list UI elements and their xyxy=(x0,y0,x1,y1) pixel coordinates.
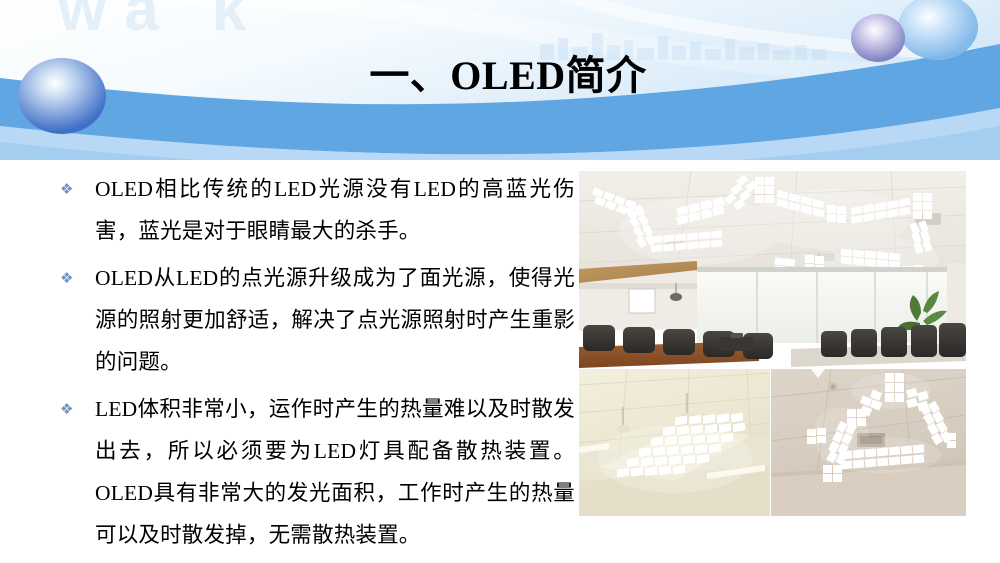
bullet-text: OLED从LED的点光源升级成为了面光源，使得光源的照射更加舒适，解决了点光源照… xyxy=(95,257,575,383)
image-collage xyxy=(579,171,966,516)
bullet-diamond-icon: ❖ xyxy=(55,168,95,210)
image-suspended-oled-panel-array xyxy=(579,369,770,516)
image-conference-room-oled-ceiling xyxy=(579,171,966,368)
bullet-text: LED体积非常小，运作时产生的热量难以及时散发出去，所以必须要为LED灯具配备散… xyxy=(95,388,575,556)
background-watermark: wa k xyxy=(58,0,264,45)
bullet-item: ❖ OLED从LED的点光源升级成为了面光源，使得光源的照射更加舒适，解决了点光… xyxy=(55,257,575,383)
presentation-slide: wa k 一、OLED简介 ❖ OLED相比传统的LED光源没有LED的高蓝光伤… xyxy=(0,0,1000,563)
bullet-item: ❖ OLED相比传统的LED光源没有LED的高蓝光伤害，蓝光是对于眼睛最大的杀手… xyxy=(55,168,575,252)
slide-header-banner: wa k 一、OLED简介 xyxy=(0,0,1000,160)
image-honeycomb-oled-ceiling xyxy=(771,369,966,516)
bullet-text: OLED相比传统的LED光源没有LED的高蓝光伤害，蓝光是对于眼睛最大的杀手。 xyxy=(95,168,575,252)
bullet-diamond-icon: ❖ xyxy=(55,257,95,299)
slide-body-content: ❖ OLED相比传统的LED光源没有LED的高蓝光伤害，蓝光是对于眼睛最大的杀手… xyxy=(55,168,575,561)
bullet-item: ❖ LED体积非常小，运作时产生的热量难以及时散发出去，所以必须要为LED灯具配… xyxy=(55,388,575,556)
slide-title: 一、OLED简介 xyxy=(0,52,1000,100)
bullet-diamond-icon: ❖ xyxy=(55,388,95,430)
